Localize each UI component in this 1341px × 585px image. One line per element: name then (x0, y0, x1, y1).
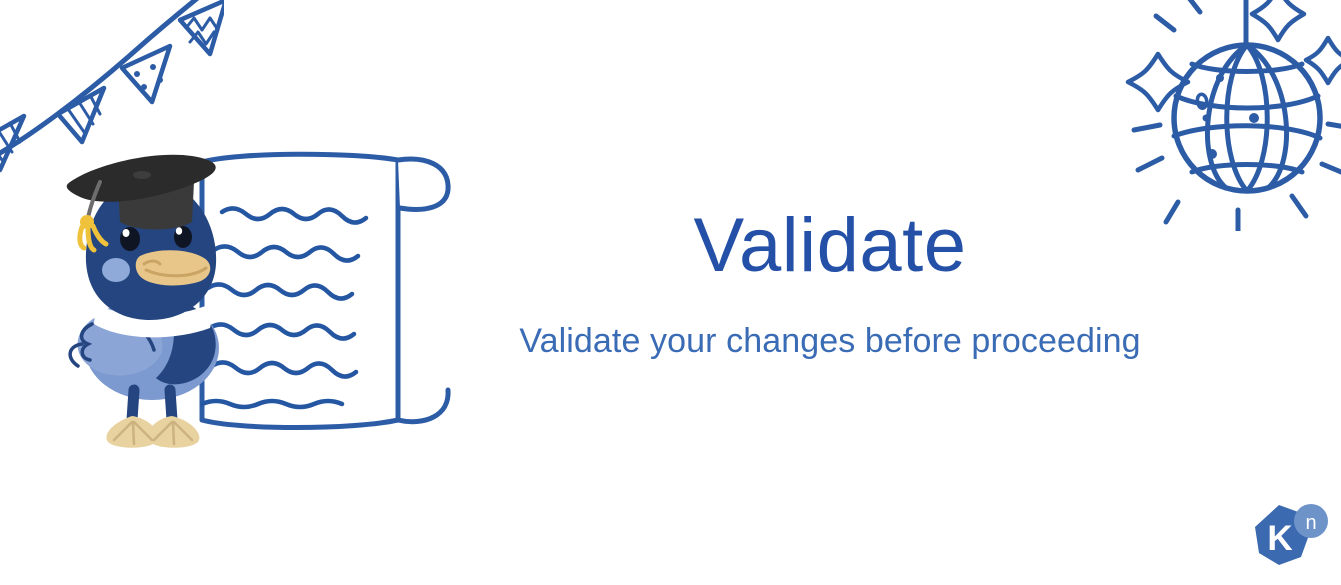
logo-mark-letter: K (1267, 519, 1292, 558)
slide-canvas: Validate Validate your changes before pr… (0, 0, 1341, 585)
graduate-bird-mascot-illustration (52, 138, 462, 468)
disco-ball-icon (1116, 0, 1341, 231)
logo-badge-letter: n (1305, 512, 1316, 534)
brand-logo[interactable]: K n (1243, 499, 1329, 577)
page-subtitle: Validate your changes before proceeding (462, 322, 1198, 361)
document-scroll-icon (178, 154, 448, 427)
page-title: Validate (462, 206, 1198, 286)
hero-text-block: Validate Validate your changes before pr… (462, 206, 1198, 361)
bird-mascot-body (67, 155, 219, 448)
